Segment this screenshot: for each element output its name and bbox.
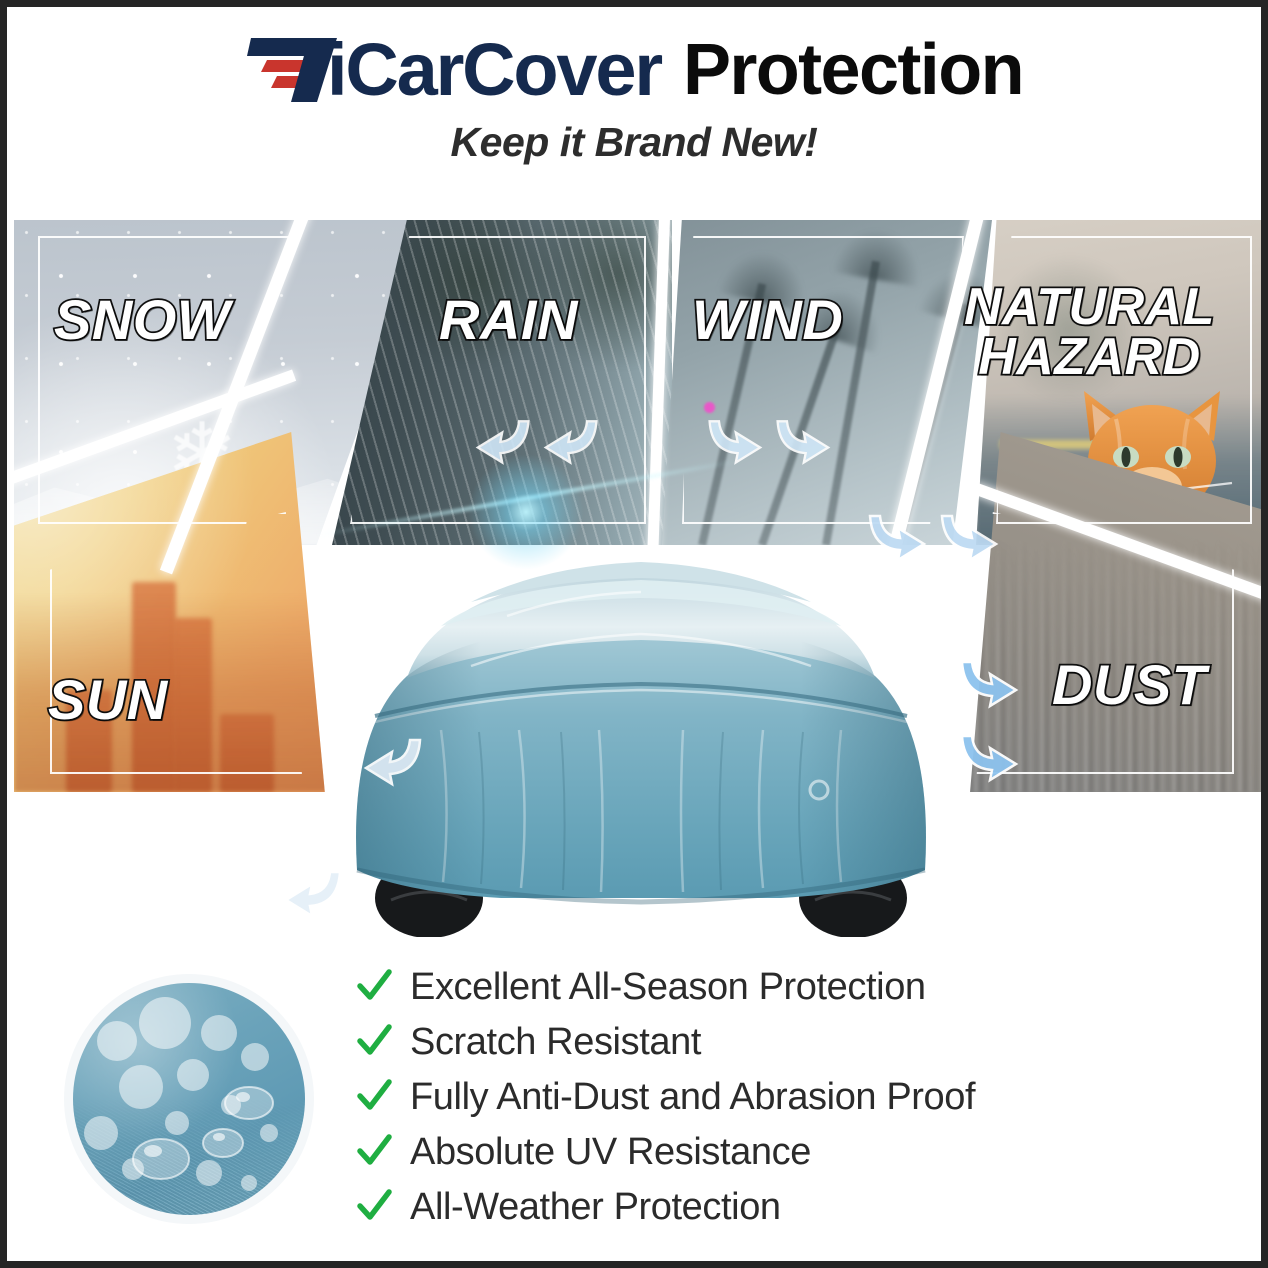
- panel-label-natural-hazard: NATURAL HAZARD: [964, 283, 1215, 383]
- check-icon: [356, 1024, 392, 1060]
- brand-row: iCarCover Protection: [245, 33, 1023, 107]
- panel-label-wind: WIND: [692, 293, 843, 348]
- panel-label-rain: RAIN: [439, 293, 578, 348]
- check-icon: [356, 1134, 392, 1170]
- feature-item: All-Weather Protection: [356, 1181, 1254, 1234]
- panel-label-dust: DUST: [1052, 658, 1206, 713]
- icarcover-wing-logo-icon: [245, 32, 349, 104]
- brand-name: iCarCover: [327, 33, 661, 107]
- check-icon: [356, 1079, 392, 1115]
- feature-item: Absolute UV Resistance: [356, 1126, 1254, 1179]
- feature-label: Absolute UV Resistance: [410, 1131, 811, 1174]
- water-droplets: [73, 983, 305, 1215]
- check-icon: [356, 969, 392, 1005]
- brand-suffix: Protection: [683, 34, 1023, 106]
- tagline: Keep it Brand New!: [451, 119, 818, 166]
- car-with-cover: [321, 430, 961, 942]
- pink-accent: [704, 402, 715, 413]
- panel-label-sun: SUN: [48, 673, 168, 728]
- feature-item: Excellent All-Season Protection: [356, 961, 1254, 1014]
- feature-label: All-Weather Protection: [410, 1186, 781, 1229]
- feature-item: Scratch Resistant: [356, 1016, 1254, 1069]
- feature-label: Scratch Resistant: [410, 1021, 701, 1064]
- features-section: Excellent All-Season Protection Scratch …: [14, 937, 1254, 1261]
- water-beading-swatch: [64, 974, 314, 1224]
- product-infographic: iCarCover Protection Keep it Brand New! …: [0, 0, 1268, 1268]
- header: iCarCover Protection Keep it Brand New!: [7, 7, 1261, 207]
- feature-list: Excellent All-Season Protection Scratch …: [356, 961, 1254, 1238]
- swatch-image: [73, 983, 305, 1215]
- check-icon: [356, 1189, 392, 1225]
- benefit-collage: ❄: [14, 220, 1268, 942]
- feature-label: Fully Anti-Dust and Abrasion Proof: [410, 1076, 975, 1119]
- feature-label: Excellent All-Season Protection: [410, 966, 926, 1009]
- panel-label-snow: SNOW: [54, 293, 230, 348]
- feature-item: Fully Anti-Dust and Abrasion Proof: [356, 1071, 1254, 1124]
